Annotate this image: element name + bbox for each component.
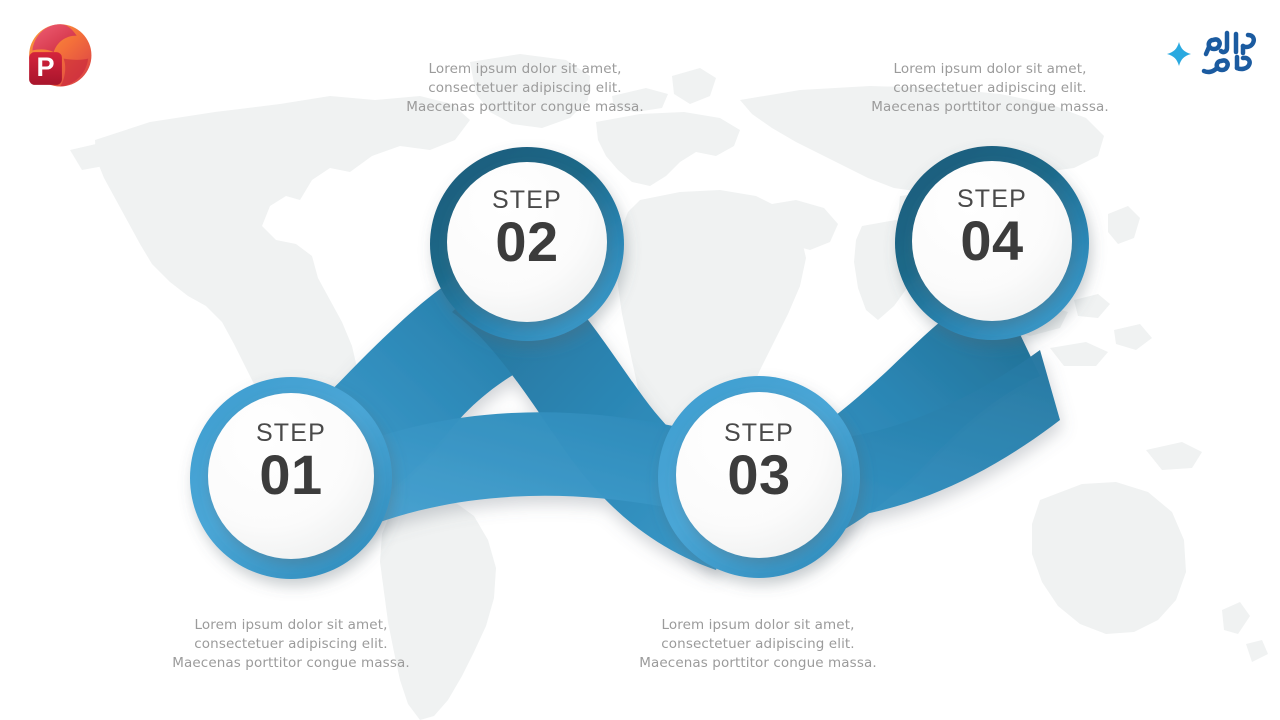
alam-kom-logo[interactable]	[1150, 26, 1258, 82]
step-03-caption: Lorem ipsum dolor sit amet, consectetuer…	[618, 616, 898, 673]
step-01-disc[interactable]	[208, 393, 374, 559]
step-03-caption-line-1: Lorem ipsum dolor sit amet,	[618, 616, 898, 635]
powerpoint-logo: P	[16, 16, 98, 98]
step-02-caption-line-2: consectetuer adipiscing elit.	[385, 79, 665, 98]
step-02-caption: Lorem ipsum dolor sit amet, consectetuer…	[385, 60, 665, 117]
step-04-caption-line-1: Lorem ipsum dolor sit amet,	[850, 60, 1130, 79]
step-04-caption-line-2: consectetuer adipiscing elit.	[850, 79, 1130, 98]
step-02-caption-line-1: Lorem ipsum dolor sit amet,	[385, 60, 665, 79]
sparkle-icon	[1167, 42, 1191, 66]
step-04-disc[interactable]	[912, 161, 1072, 321]
step-01-caption: Lorem ipsum dolor sit amet, consectetuer…	[151, 616, 431, 673]
step-03-caption-line-3: Maecenas porttitor congue massa.	[618, 654, 898, 673]
step-02-disc[interactable]	[447, 162, 607, 322]
step-01-caption-line-2: consectetuer adipiscing elit.	[151, 635, 431, 654]
step-03-disc[interactable]	[676, 392, 842, 558]
powerpoint-letter: P	[36, 52, 54, 82]
slide-canvas: STEP 02 STEP 04 STEP 01 STEP 03 Lorem ip…	[0, 0, 1280, 720]
step-02-caption-line-3: Maecenas porttitor congue massa.	[385, 98, 665, 117]
step-01-caption-line-1: Lorem ipsum dolor sit amet,	[151, 616, 431, 635]
step-03-caption-line-2: consectetuer adipiscing elit.	[618, 635, 898, 654]
step-01-caption-line-3: Maecenas porttitor congue massa.	[151, 654, 431, 673]
step-04-caption-line-3: Maecenas porttitor congue massa.	[850, 98, 1130, 117]
step-04-caption: Lorem ipsum dolor sit amet, consectetuer…	[850, 60, 1130, 117]
